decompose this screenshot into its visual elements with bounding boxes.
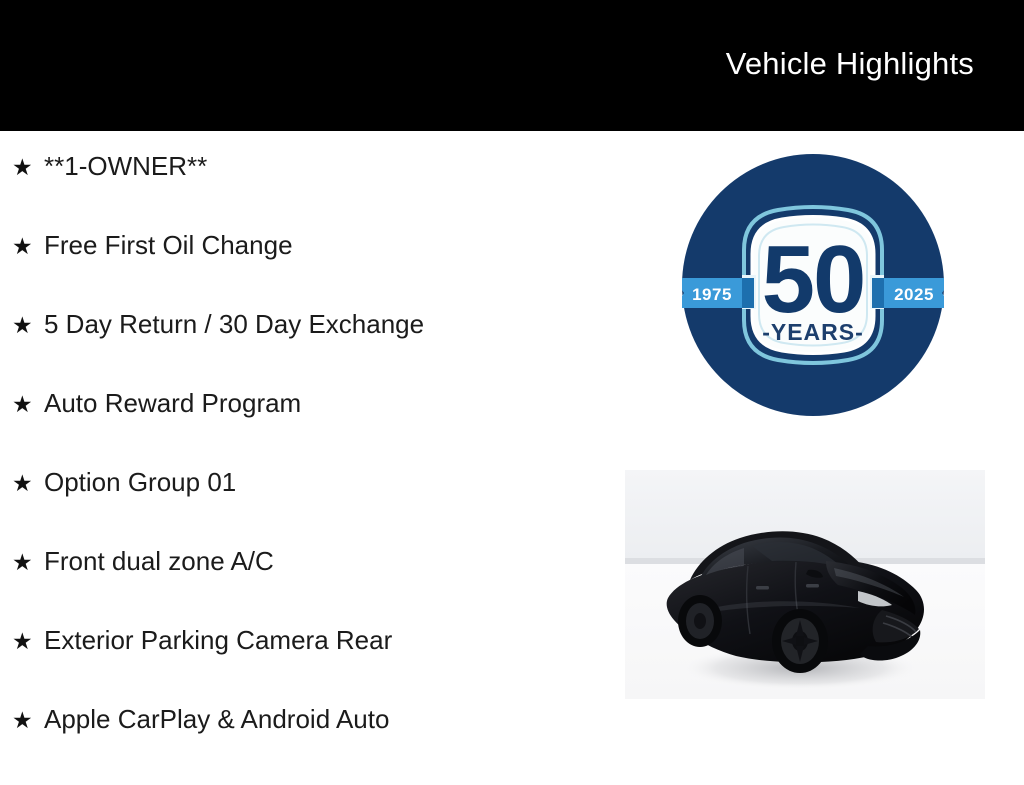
vehicle-photo — [620, 458, 990, 741]
list-item: ★ **1-OWNER** — [0, 153, 600, 232]
list-item: ★ Exterior Parking Camera Rear — [0, 627, 600, 706]
star-icon: ★ — [12, 709, 44, 732]
badge-year-start: 1975 — [692, 285, 732, 304]
star-icon: ★ — [12, 551, 44, 574]
anniversary-badge-icon: 1975 2025 50 -YEARS- — [682, 154, 944, 416]
vehicle-photo-image — [620, 458, 990, 741]
list-item-label: Front dual zone A/C — [44, 548, 274, 574]
list-item-label: **1-OWNER** — [44, 153, 207, 179]
badge-ribbon-right: 2025 — [870, 275, 944, 309]
badge-ribbon-left-fold — [742, 278, 754, 308]
badge-number: 50 — [762, 226, 865, 333]
vehicle-door-handle-front — [806, 584, 819, 588]
star-icon: ★ — [12, 630, 44, 653]
badge-caption: -YEARS- — [762, 319, 864, 345]
list-item: ★ Auto Reward Program — [0, 390, 600, 469]
page-title: Vehicle Highlights — [726, 46, 974, 82]
star-icon: ★ — [12, 156, 44, 179]
list-item-label: Exterior Parking Camera Rear — [44, 627, 392, 653]
list-item: ★ Option Group 01 — [0, 469, 600, 548]
list-item-label: Auto Reward Program — [44, 390, 301, 416]
list-item: ★ 5 Day Return / 30 Day Exchange — [0, 311, 600, 390]
vehicle-wheel-rear — [678, 595, 722, 647]
star-icon: ★ — [12, 314, 44, 337]
list-item: ★ Front dual zone A/C — [0, 548, 600, 627]
anniversary-badge: 1975 2025 50 -YEARS- — [682, 154, 944, 416]
list-item-label: Free First Oil Change — [44, 232, 293, 258]
star-icon: ★ — [12, 393, 44, 416]
header-bar: Vehicle Highlights — [0, 0, 1024, 131]
badge-ribbon-left: 1975 — [682, 275, 756, 309]
list-item-label: Apple CarPlay & Android Auto — [44, 706, 389, 732]
vehicle-wheel-front — [772, 609, 828, 673]
vehicle-door-handle-rear — [756, 586, 769, 590]
badge-year-end: 2025 — [894, 285, 934, 304]
list-item-label: Option Group 01 — [44, 469, 236, 495]
list-item: ★ Free First Oil Change — [0, 232, 600, 311]
star-icon: ★ — [12, 235, 44, 258]
list-item: ★ Apple CarPlay & Android Auto — [0, 706, 600, 785]
vehicle-highlights-list: ★ **1-OWNER** ★ Free First Oil Change ★ … — [0, 131, 600, 785]
badge-ribbon-right-fold — [872, 278, 884, 308]
list-item-label: 5 Day Return / 30 Day Exchange — [44, 311, 424, 337]
star-icon: ★ — [12, 472, 44, 495]
